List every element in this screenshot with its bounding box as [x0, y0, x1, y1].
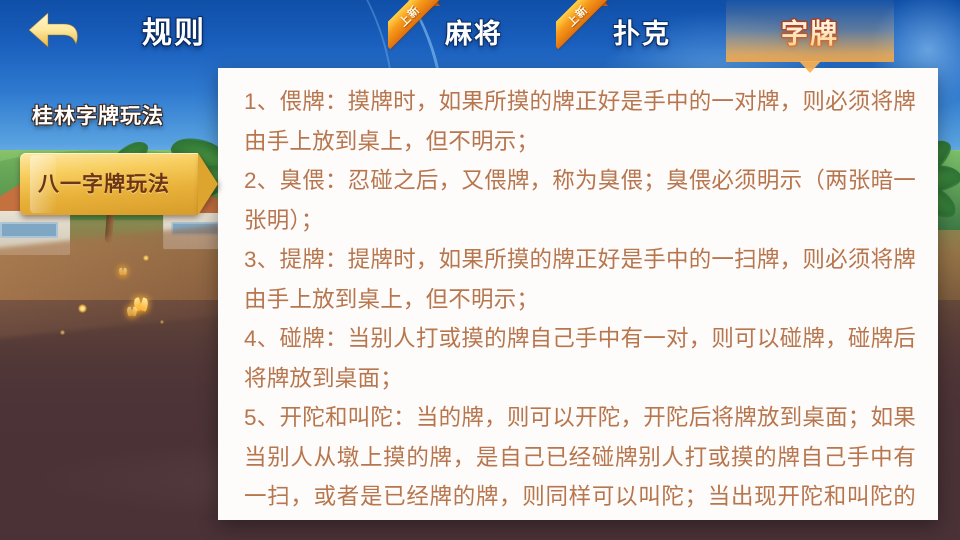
tab-active-pointer-icon: [799, 61, 821, 73]
spark-decor: [60, 330, 65, 335]
rule-paragraph: 3、提牌：提牌时，如果所摸的牌正好是手中的一扫牌，则必须将牌由手上放到桌上，但不…: [244, 240, 916, 319]
rule-paragraph: 5、开陀和叫陀：当的牌，则可以开陀，开陀后将牌放到桌面；如果当别人从墩上摸的牌，…: [244, 398, 916, 520]
back-button[interactable]: [26, 9, 88, 51]
new-badge-label: 上新: [395, 1, 423, 29]
top-bar: 规则 上新 麻将 上新 扑克 字牌: [0, 0, 960, 62]
page-title: 规则: [142, 8, 206, 52]
new-badge-icon: 上新: [388, 0, 450, 54]
sidebar-item-bayi-zipai[interactable]: 八一字牌玩法: [0, 153, 220, 215]
spark-decor: [143, 255, 149, 261]
tab-label: 扑克: [613, 12, 671, 51]
tab-label: 麻将: [445, 12, 503, 51]
tab-mahjong[interactable]: 上新 麻将: [390, 0, 558, 62]
sidebar-active-arrow-icon: [198, 153, 218, 215]
game-rules-screen: 规则 上新 麻将 上新 扑克 字牌: [0, 0, 960, 540]
spark-decor: [160, 320, 164, 324]
rule-paragraph: 2、臭偎：忍碰之后，又偎牌，称为臭偎；臭偎必须明示（两张暗一张明）；: [244, 161, 916, 240]
rules-content-panel[interactable]: 1、偎牌：摸牌时，如果所摸的牌正好是手中的一对牌，则必须将牌由手上放到桌上，但不…: [218, 68, 938, 520]
rules-list: 1、偎牌：摸牌时，如果所摸的牌正好是手中的一对牌，则必须将牌由手上放到桌上，但不…: [218, 68, 938, 520]
new-badge-icon: 上新: [556, 0, 618, 54]
back-arrow-icon: [26, 9, 88, 51]
tab-active-background: [726, 0, 894, 62]
new-badge-label: 上新: [563, 1, 591, 29]
tab-poker[interactable]: 上新 扑克: [558, 0, 726, 62]
rule-paragraph: 1、偎牌：摸牌时，如果所摸的牌正好是手中的一对牌，则必须将牌由手上放到桌上，但不…: [244, 82, 916, 161]
sidebar-item-label: 桂林字牌玩法: [0, 100, 164, 130]
firefly-decor: [127, 307, 136, 316]
panel-scrollbar[interactable]: [931, 78, 935, 508]
rule-paragraph: 4、碰牌：当别人打或摸的牌自己手中有一对，则可以碰牌，碰牌后将牌放到桌面；: [244, 319, 916, 398]
sidebar-item-label: 八一字牌玩法: [0, 172, 200, 197]
sidebar: 桂林字牌玩法 八一字牌玩法: [0, 95, 220, 215]
spark-decor: [78, 304, 87, 313]
tab-zipai[interactable]: 字牌: [726, 0, 894, 62]
sidebar-item-guilin-zipai[interactable]: 桂林字牌玩法: [0, 95, 220, 135]
firefly-decor: [119, 268, 126, 275]
